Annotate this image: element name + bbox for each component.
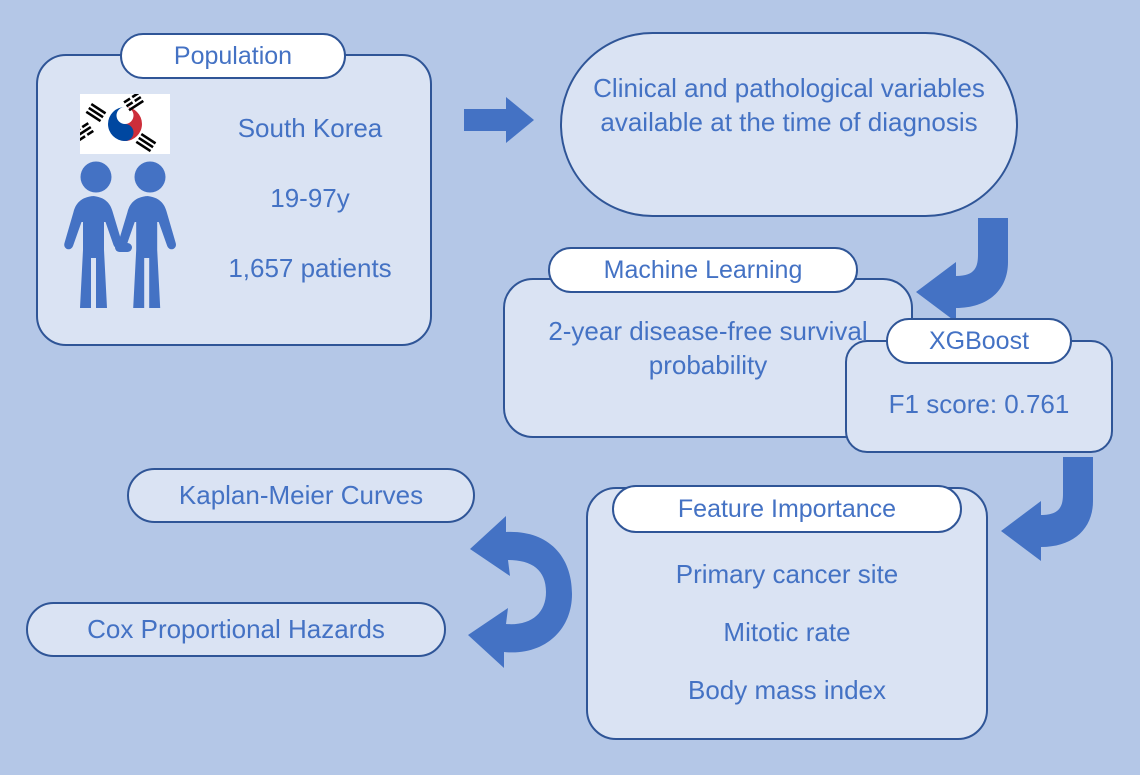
cox-proportional-hazards-label: Cox Proportional Hazards (87, 614, 385, 645)
feature-importance-item: Body mass index (606, 674, 968, 708)
population-detail-lines: South Korea 19-97y 1,657 patients (196, 112, 424, 285)
machine-learning-tag-label: Machine Learning (604, 254, 803, 286)
population-line-count: 1,657 patients (196, 252, 424, 286)
feature-importance-tag-label: Feature Importance (678, 493, 896, 525)
clinical-variables-text: Clinical and pathological variables avai… (584, 72, 994, 140)
population-tag: Population (120, 33, 346, 79)
xgboost-tag: XGBoost (886, 318, 1072, 364)
double-curved-arrow-icon (458, 508, 603, 668)
xgboost-f1-score: F1 score: 0.761 (860, 388, 1098, 422)
diagram-canvas: Population (0, 0, 1140, 775)
feature-importance-list: Primary cancer site Mitotic rate Body ma… (606, 558, 968, 731)
feature-importance-item: Mitotic rate (606, 616, 968, 650)
curved-arrow-down-left-icon (985, 455, 1105, 565)
population-line-country: South Korea (196, 112, 424, 146)
two-people-icon (58, 160, 193, 310)
kaplan-meier-label: Kaplan-Meier Curves (179, 480, 423, 511)
feature-importance-item: Primary cancer site (606, 558, 968, 592)
curved-arrow-down-left-icon (900, 216, 1020, 326)
machine-learning-tag: Machine Learning (548, 247, 858, 293)
kaplan-meier-pill: Kaplan-Meier Curves (127, 468, 475, 523)
population-tag-label: Population (174, 40, 292, 72)
south-korea-flag-icon (80, 94, 170, 154)
arrow-right-icon (462, 92, 536, 148)
feature-importance-tag: Feature Importance (612, 485, 962, 533)
population-line-age: 19-97y (196, 182, 424, 216)
xgboost-tag-label: XGBoost (929, 325, 1029, 357)
machine-learning-text: 2-year disease-free survival probability (518, 315, 898, 383)
cox-proportional-hazards-pill: Cox Proportional Hazards (26, 602, 446, 657)
